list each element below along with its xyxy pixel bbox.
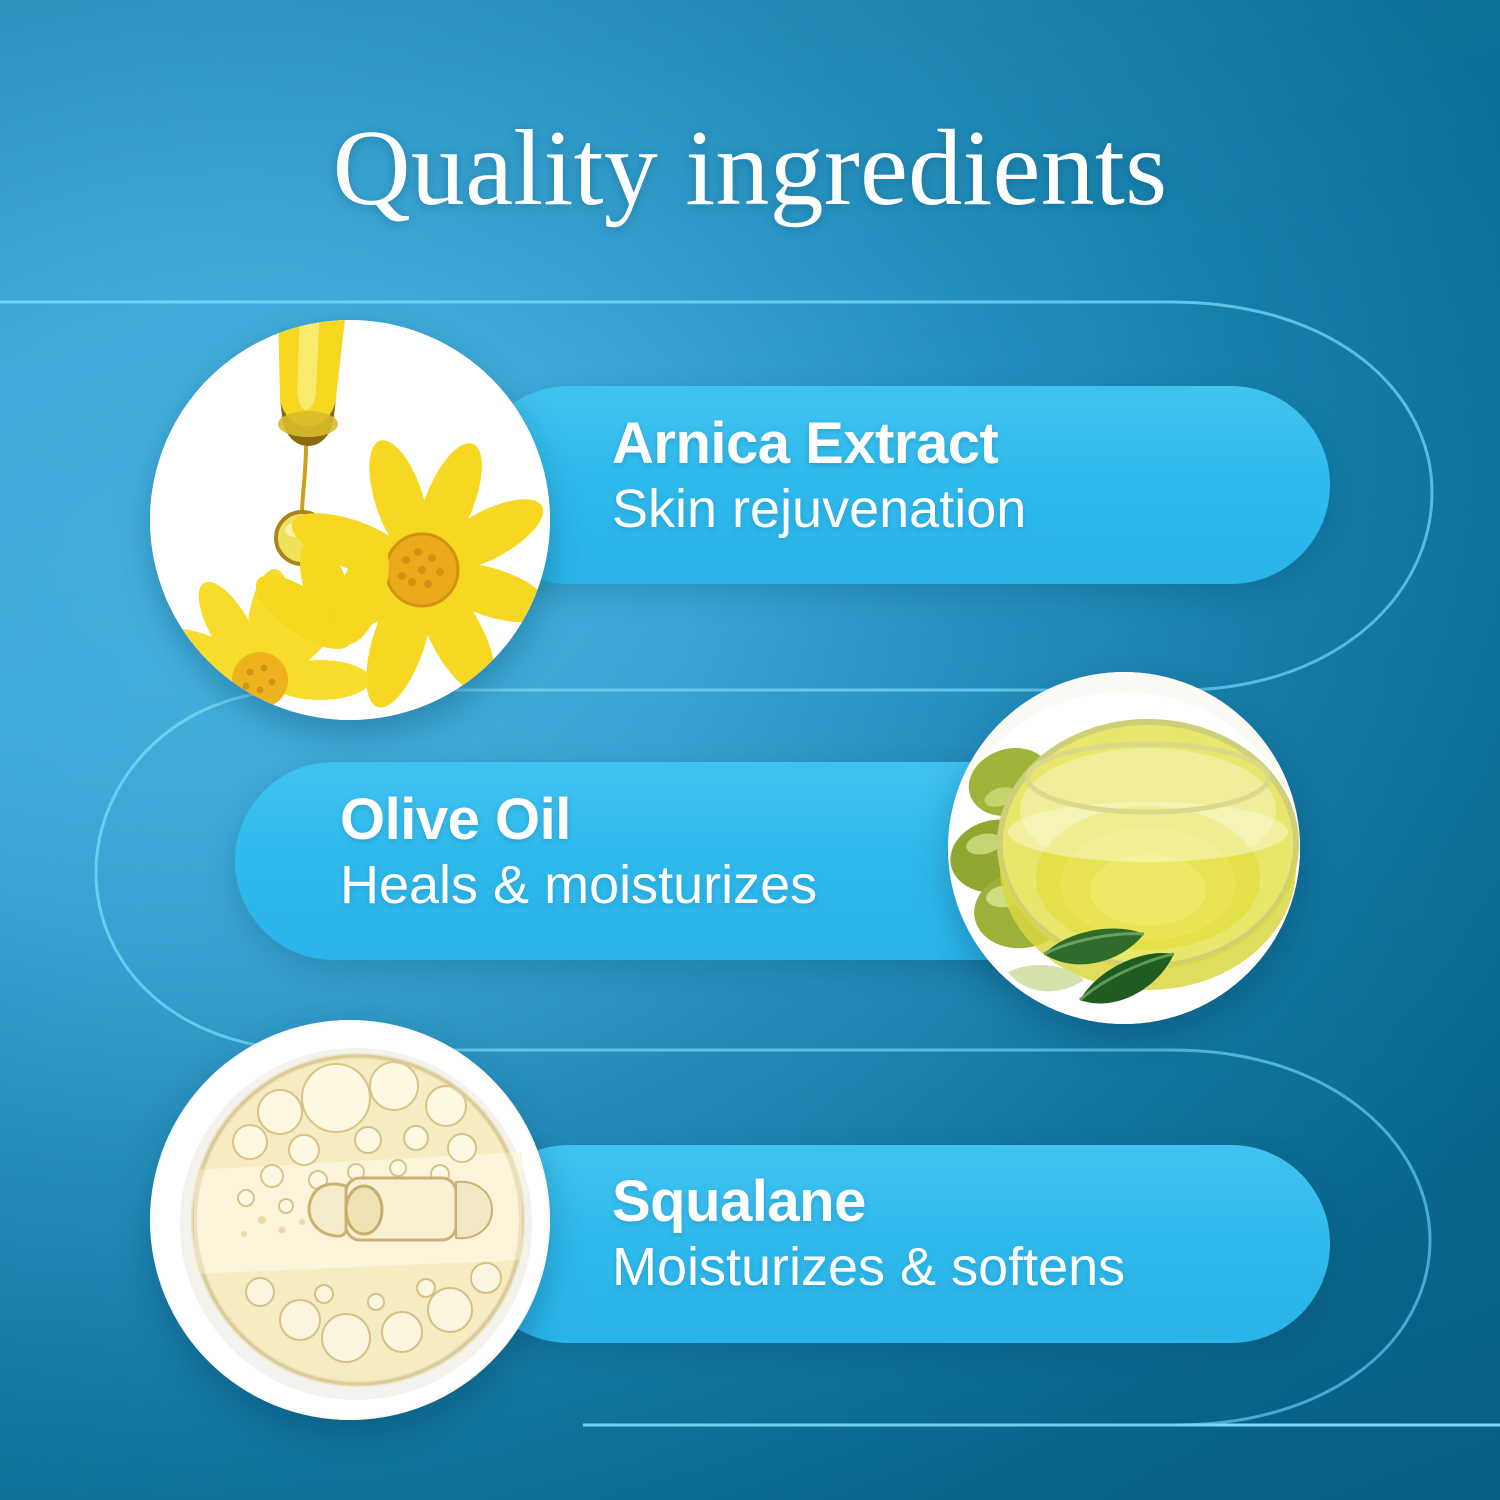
ingredient-text-squalane: Squalane Moisturizes & softens <box>612 1172 1125 1298</box>
ingredient-description-olive-oil: Heals & moisturizes <box>340 855 817 915</box>
page-title: Quality ingredients <box>0 112 1500 225</box>
ingredient-description-squalane: Moisturizes & softens <box>612 1237 1125 1297</box>
ingredient-description-arnica: Skin rejuvenation <box>612 479 1026 539</box>
ingredient-text-olive-oil: Olive Oil Heals & moisturizes <box>340 790 817 916</box>
ingredient-text-arnica: Arnica Extract Skin rejuvenation <box>612 414 1026 540</box>
ingredient-image-olive-oil <box>948 672 1300 1024</box>
ingredient-name-squalane: Squalane <box>612 1172 1125 1231</box>
ingredient-name-olive-oil: Olive Oil <box>340 790 817 849</box>
ingredient-image-arnica <box>150 320 550 720</box>
quality-ingredients-poster: Quality ingredients Arnica Extract Skin … <box>0 0 1500 1500</box>
ingredient-name-arnica: Arnica Extract <box>612 414 1026 473</box>
ingredient-image-squalane <box>150 1020 550 1420</box>
